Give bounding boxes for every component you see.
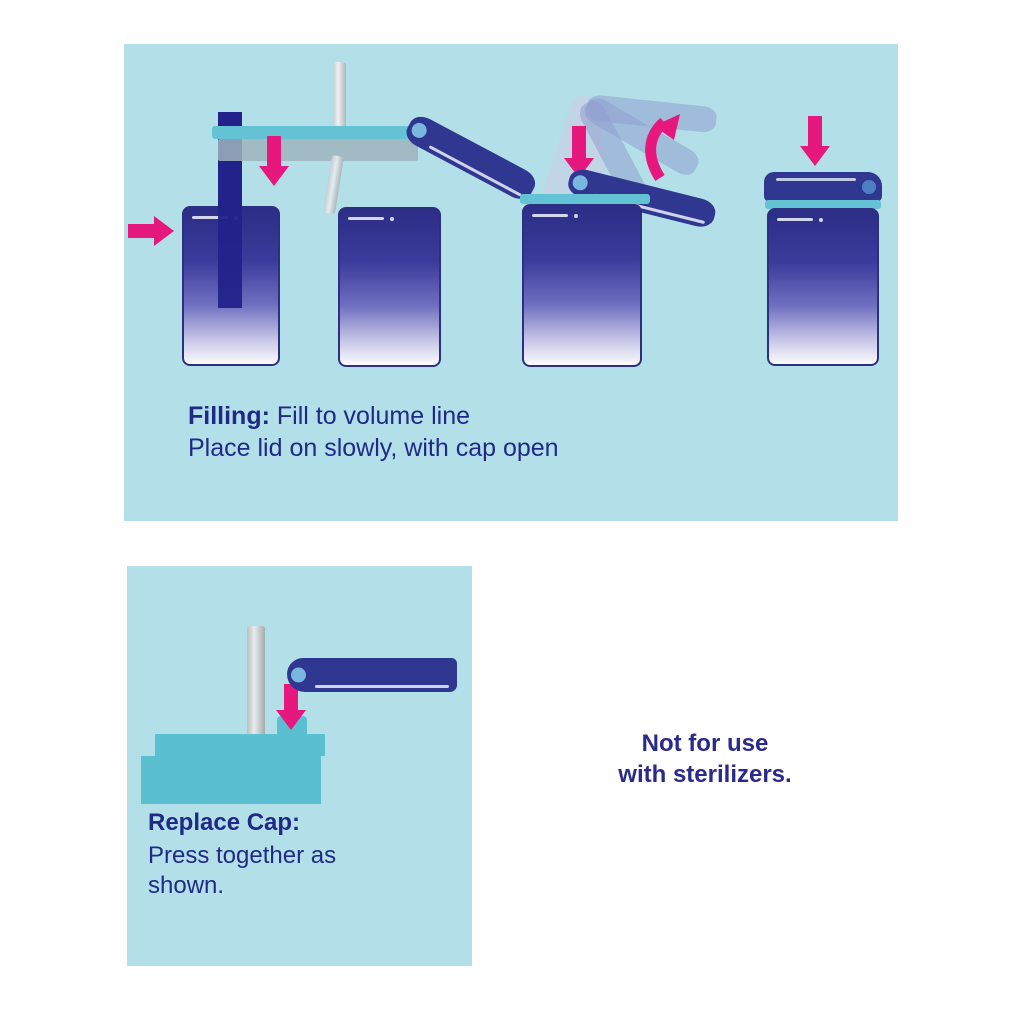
lid-top-strip [212, 126, 424, 139]
filling-caption: Filling: Fill to volume line Place lid o… [188, 400, 788, 464]
spout-tube [333, 62, 346, 134]
cap-hinge-knob [571, 174, 589, 192]
filling-caption-line-1: Filling: Fill to volume line [188, 400, 788, 432]
replace-cap-caption-line-2: shown. [148, 871, 448, 902]
cap-highlight [315, 685, 449, 688]
cap-arm-open [402, 112, 540, 204]
cap-highlight [429, 145, 522, 196]
volume-line-marking [348, 217, 384, 220]
cap-hinge-knob [291, 668, 306, 683]
sterilizer-warning: Not for use with sterilizers. [540, 728, 870, 790]
sterilizer-warning-line-1: Not for use [540, 728, 870, 759]
filling-caption-line-2: Place lid on slowly, with cap open [188, 432, 788, 464]
cap-highlight [776, 178, 856, 181]
cap-hinge-knob [409, 120, 429, 140]
volume-line-dot [390, 217, 394, 221]
replace-cap-caption: Replace Cap: Press together as shown. [148, 808, 448, 902]
bag-step-2 [338, 207, 441, 367]
lid-body-band [218, 139, 418, 161]
fill-level-arrow-icon [128, 216, 174, 246]
cap-closed-flat [764, 172, 882, 202]
spout-tube-lower [323, 155, 344, 214]
rotate-arrow-icon [624, 92, 694, 182]
cap-hinge-knob [862, 180, 876, 194]
volume-line-marking [777, 218, 813, 221]
volume-line-marking [532, 214, 568, 217]
lid-seat-strip [520, 194, 650, 204]
replace-cap-caption-line-1: Press together as [148, 841, 448, 872]
pour-stream-inside [218, 206, 242, 308]
volume-line-dot [574, 214, 578, 218]
replace-cap-panel [127, 566, 472, 966]
filling-caption-lead: Filling: [188, 402, 270, 430]
volume-line-dot [819, 218, 823, 222]
press-cap-arrow-icon [800, 116, 830, 166]
bag-step-3 [522, 204, 642, 367]
bag-step-4 [767, 208, 879, 366]
sterilizer-warning-line-2: with sterilizers. [540, 759, 870, 790]
cap-arm-approaching [287, 658, 457, 692]
replace-cap-caption-lead: Replace Cap: [148, 808, 448, 839]
filling-caption-rest: Fill to volume line [270, 402, 470, 430]
lid-cross-section-body [141, 756, 321, 804]
place-lid-arrow-icon [259, 136, 289, 186]
